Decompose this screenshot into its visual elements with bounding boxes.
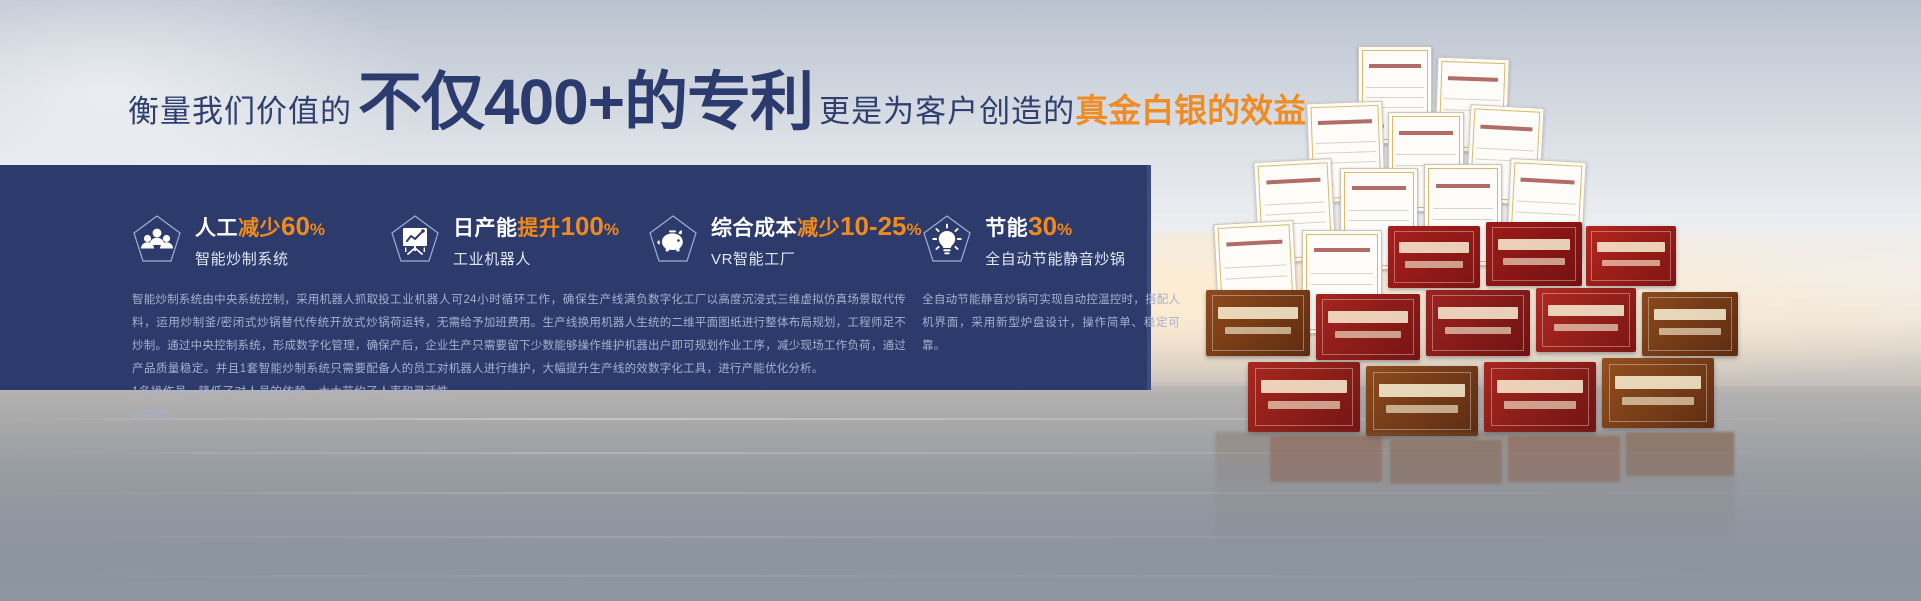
award-plaque [1248, 362, 1360, 432]
stat-word: 减少 [797, 217, 840, 240]
stat-prefix: 节能 [985, 217, 1028, 240]
feature-header: 节能30% 全自动节能静音炒锅 [922, 215, 1180, 267]
stat-prefix: 日产能 [453, 217, 518, 240]
feature-heading: 综合成本减少10-25% VR智能工厂 [711, 213, 922, 268]
feature-header: 人工减少60% 智能炒制系统 [132, 215, 390, 267]
feature-heading: 日产能提升100% 工业机器人 [453, 213, 620, 268]
certificate-reflection [1270, 436, 1382, 482]
feature-stat: 节能30% [985, 213, 1125, 240]
feature-stat: 人工减少60% [195, 213, 326, 240]
award-plaque [1388, 226, 1480, 288]
headline-prefix: 衡量我们价值的 [128, 86, 352, 131]
banner-stage: 衡量我们价值的 不仅400+的专利 更是为客户创造的 真金白银的效益 [0, 0, 1921, 601]
award-plaque [1316, 294, 1420, 360]
award-plaque [1602, 358, 1714, 428]
feature-card-2: 日产能提升100% 工业机器人 工业机器人可24小时循环工作，确保生产线满负荷运… [390, 165, 648, 390]
headline-emphasis: 不仅400+的专利 [352, 72, 819, 133]
stat-unit: % [1057, 220, 1073, 239]
award-plaque [1426, 290, 1530, 356]
certificate-reflection [1626, 432, 1734, 476]
feature-body: 数字化工厂以高度沉浸式三维虚拟仿真场景取代传统的二维平面图纸进行整体布局规划，工… [648, 289, 906, 381]
award-plaque [1486, 222, 1582, 286]
feature-heading: 节能30% 全自动节能静音炒锅 [985, 213, 1125, 268]
feature-subtitle: 智能炒制系统 [195, 248, 326, 269]
stat-unit: % [907, 220, 923, 239]
certificate-reflection [1390, 440, 1502, 484]
headline-middle: 更是为客户创造的 [819, 86, 1075, 131]
award-plaque [1642, 292, 1738, 356]
stat-prefix: 综合成本 [711, 217, 797, 240]
feature-card-1: 人工减少60% 智能炒制系统 智能炒制系统由中央系统控制，采用机器人抓取投料，运… [132, 165, 390, 390]
award-plaque [1206, 290, 1310, 356]
feature-subtitle: 全自动节能静音炒锅 [985, 248, 1125, 269]
page-title: 衡量我们价值的 不仅400+的专利 更是为客户创造的 真金白银的效益 [128, 72, 1306, 142]
feature-subtitle: 工业机器人 [453, 248, 620, 269]
award-plaque [1586, 226, 1676, 286]
feature-heading: 人工减少60% 智能炒制系统 [195, 213, 326, 268]
stat-number: 10-25 [840, 211, 907, 241]
feature-subtitle: VR智能工厂 [711, 248, 922, 269]
award-plaque [1536, 288, 1636, 352]
stat-unit: % [310, 220, 326, 239]
feature-stat: 综合成本减少10-25% [711, 213, 922, 240]
feature-body: 智能炒制系统由中央系统控制，采用机器人抓取投料，运用炒制釜/密闭式炒锅替代传统开… [132, 289, 390, 427]
feature-stat: 日产能提升100% [453, 213, 620, 240]
people-group-icon [132, 214, 182, 268]
feature-card-4: 节能30% 全自动节能静音炒锅 全自动节能静音炒锅可实现自动控温控时，搭配人机界… [922, 165, 1180, 390]
stat-number: 60 [281, 211, 310, 241]
features-row: 人工减少60% 智能炒制系统 智能炒制系统由中央系统控制，采用机器人抓取投料，运… [0, 165, 1151, 390]
award-plaque [1366, 366, 1478, 436]
features-panel: 人工减少60% 智能炒制系统 智能炒制系统由中央系统控制，采用机器人抓取投料，运… [0, 165, 1151, 390]
water-streak [0, 575, 1921, 577]
stat-number: 100 [561, 211, 604, 241]
stat-word: 减少 [238, 217, 281, 240]
feature-body: 工业机器人可24小时循环工作，确保生产线满负荷运转，无需给予加班费用。生产线换用… [390, 289, 648, 404]
stat-number: 30 [1028, 211, 1057, 241]
feature-card-3: 综合成本减少10-25% VR智能工厂 数字化工厂以高度沉浸式三维虚拟仿真场景取… [648, 165, 922, 390]
stat-unit: % [604, 220, 620, 239]
stat-prefix: 人工 [195, 217, 238, 240]
certificate-pyramid [1190, 40, 1750, 470]
water-streak [0, 492, 1921, 494]
piggy-bank-icon [648, 214, 698, 268]
stat-word: 提升 [518, 217, 561, 240]
feature-body: 全自动节能静音炒锅可实现自动控温控时，搭配人机界面，采用新型炉盘设计，操作简单、… [922, 289, 1180, 358]
chart-easel-icon [390, 214, 440, 268]
water-streak [0, 536, 1921, 538]
award-plaque [1484, 362, 1596, 432]
certificate-reflection [1508, 436, 1620, 482]
feature-header: 综合成本减少10-25% VR智能工厂 [648, 215, 922, 267]
lightbulb-icon [922, 214, 972, 268]
feature-header: 日产能提升100% 工业机器人 [390, 215, 648, 267]
